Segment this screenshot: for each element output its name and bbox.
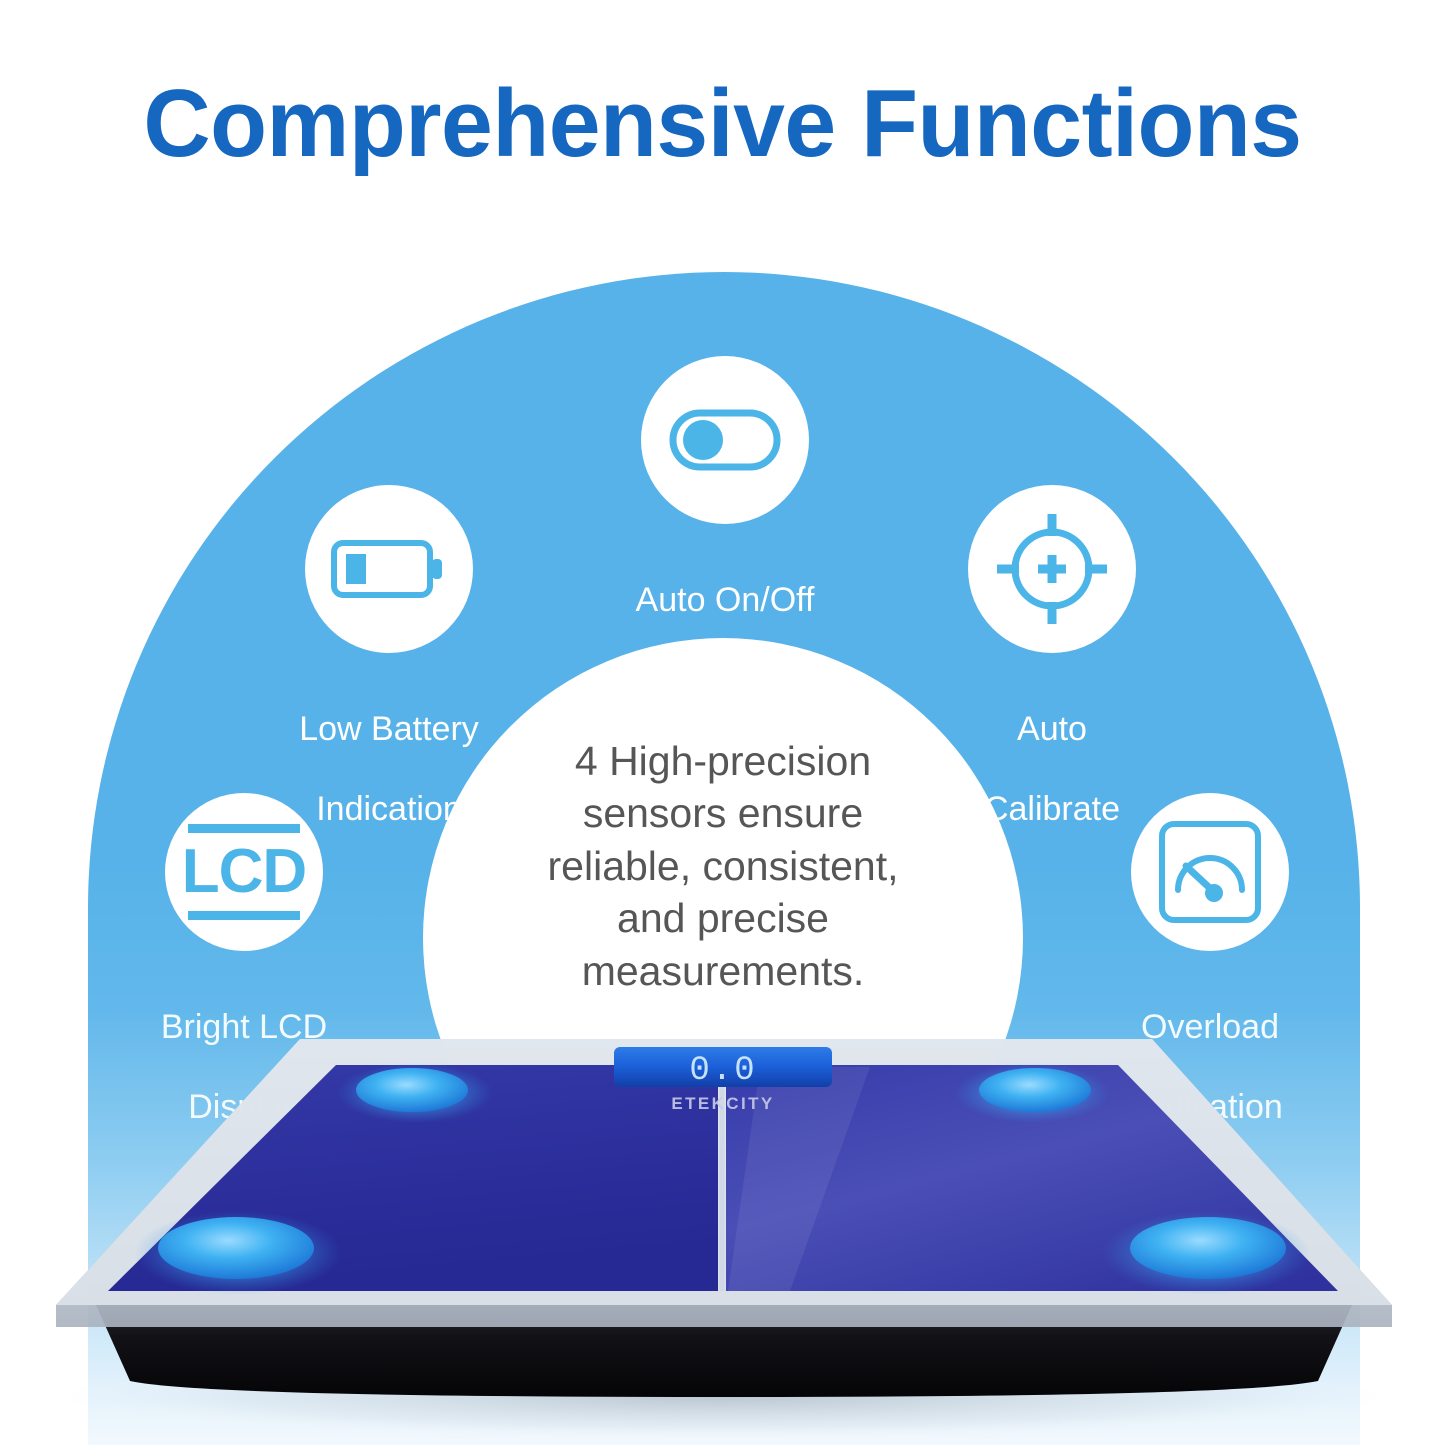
sensor-pad-tr (979, 1068, 1091, 1112)
feature-label-line-1: Auto (902, 709, 1202, 749)
feature-icon-bubble (305, 485, 473, 653)
feature-icon-bubble (641, 356, 809, 524)
lcd-text-icon: LCD (182, 824, 306, 919)
center-line-5: measurements. (443, 945, 1003, 997)
toggle-switch-icon (669, 409, 781, 471)
lcd-digits: 0.0 (689, 1052, 756, 1090)
sensor-pad-bl (158, 1217, 314, 1279)
infographic-root: Comprehensive Functions 4 High-precision… (0, 0, 1445, 1445)
center-line-4: and precise (443, 892, 1003, 944)
feature-icon-bubble: LCD (165, 793, 323, 951)
gauge-meter-icon (1158, 820, 1262, 924)
feature-icon-bubble (1131, 793, 1289, 951)
product-bathroom-scale: 0.0 ETEKCITY (0, 1005, 1445, 1445)
sensor-pad-br (1130, 1217, 1286, 1279)
page-title: Comprehensive Functions (22, 74, 1424, 175)
feature-label: Auto On/Off (575, 540, 875, 660)
feature-icon-bubble (968, 485, 1136, 653)
brand-logo: ETEKCITY (671, 1094, 774, 1113)
lcd-top-rule (188, 824, 300, 833)
crosshair-target-icon (993, 510, 1111, 628)
lcd-bottom-rule (188, 911, 300, 920)
sensor-pad-tl (356, 1068, 468, 1112)
feature-label-line-1: Auto On/Off (575, 580, 875, 620)
feature-label-line-1: Low Battery (239, 709, 539, 749)
battery-low-icon (330, 536, 448, 602)
feature-auto-on-off[interactable]: Auto On/Off (575, 356, 875, 660)
lcd-label: LCD (182, 840, 306, 903)
